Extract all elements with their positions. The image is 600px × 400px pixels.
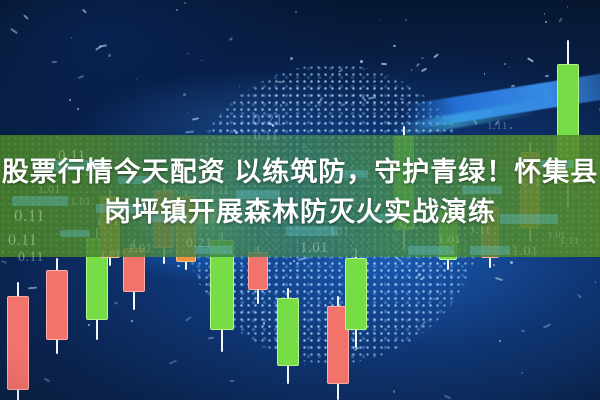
banner-image: 0.110.210.111.111.011.110.110.111.011.01…: [0, 0, 600, 400]
page-title: 股票行情今天配资 以练筑防，守护青绿！怀集县 岗坪镇开展森林防灭火实战演练: [0, 152, 600, 232]
headline-line-1: 股票行情今天配资 以练筑防，守护青绿！怀集县: [2, 157, 599, 187]
headline-line-2: 岗坪镇开展森林防灭火实战演练: [0, 192, 600, 232]
